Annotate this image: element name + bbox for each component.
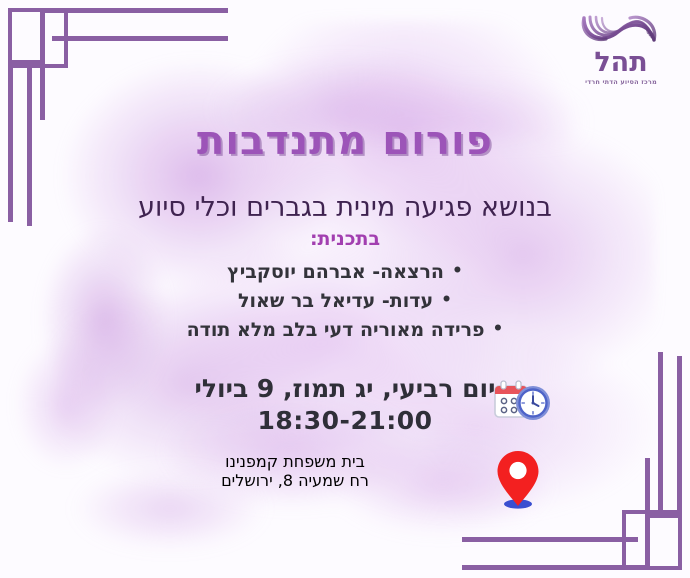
program-item-text: פרידה מאוריה דעי בלב מלא תודה xyxy=(187,319,485,341)
bullet-point-icon: • xyxy=(493,317,504,343)
event-date: יום רביעי, יג תמוז, 9 ביולי xyxy=(195,374,496,403)
bullet-point-icon: • xyxy=(441,288,452,314)
event-flyer: תהל מרכז הסיוע הדתי חרדי פורום מתנדבות ב… xyxy=(0,0,690,578)
program-label: בתכנית: xyxy=(0,228,690,250)
event-venue-block: בית משפחת קמפנינו רח שמעיה 8, ירושלים xyxy=(120,452,470,490)
flyer-content: פורום מתנדבות בנושא פגיעה מינית בגברים ו… xyxy=(0,0,690,578)
event-datetime-block: יום רביעי, יג תמוז, 9 ביולי 18:30-21:00 xyxy=(0,374,690,435)
program-list: •הרצאה- אברהם יוסקביץ •עדות- עדיאל בר שא… xyxy=(0,258,690,345)
list-item: •הרצאה- אברהם יוסקביץ xyxy=(0,258,690,287)
flyer-title: פורום מתנדבות xyxy=(0,118,690,164)
flyer-subtitle: בנושא פגיעה מינית בגברים וכלי סיוע xyxy=(0,192,690,223)
program-item-text: הרצאה- אברהם יוסקביץ xyxy=(227,261,444,283)
venue-name: בית משפחת קמפנינו xyxy=(120,452,470,471)
bullet-point-icon: • xyxy=(452,259,463,285)
program-item-text: עדות- עדיאל בר שאול xyxy=(238,290,433,312)
venue-address: רח שמעיה 8, ירושלים xyxy=(120,471,470,490)
list-item: •עדות- עדיאל בר שאול xyxy=(0,287,690,316)
event-time: 18:30-21:00 xyxy=(0,406,690,435)
calendar-clock-icon xyxy=(492,379,552,423)
list-item: •פרידה מאוריה דעי בלב מלא תודה xyxy=(0,316,690,345)
map-pin-icon xyxy=(492,448,544,510)
